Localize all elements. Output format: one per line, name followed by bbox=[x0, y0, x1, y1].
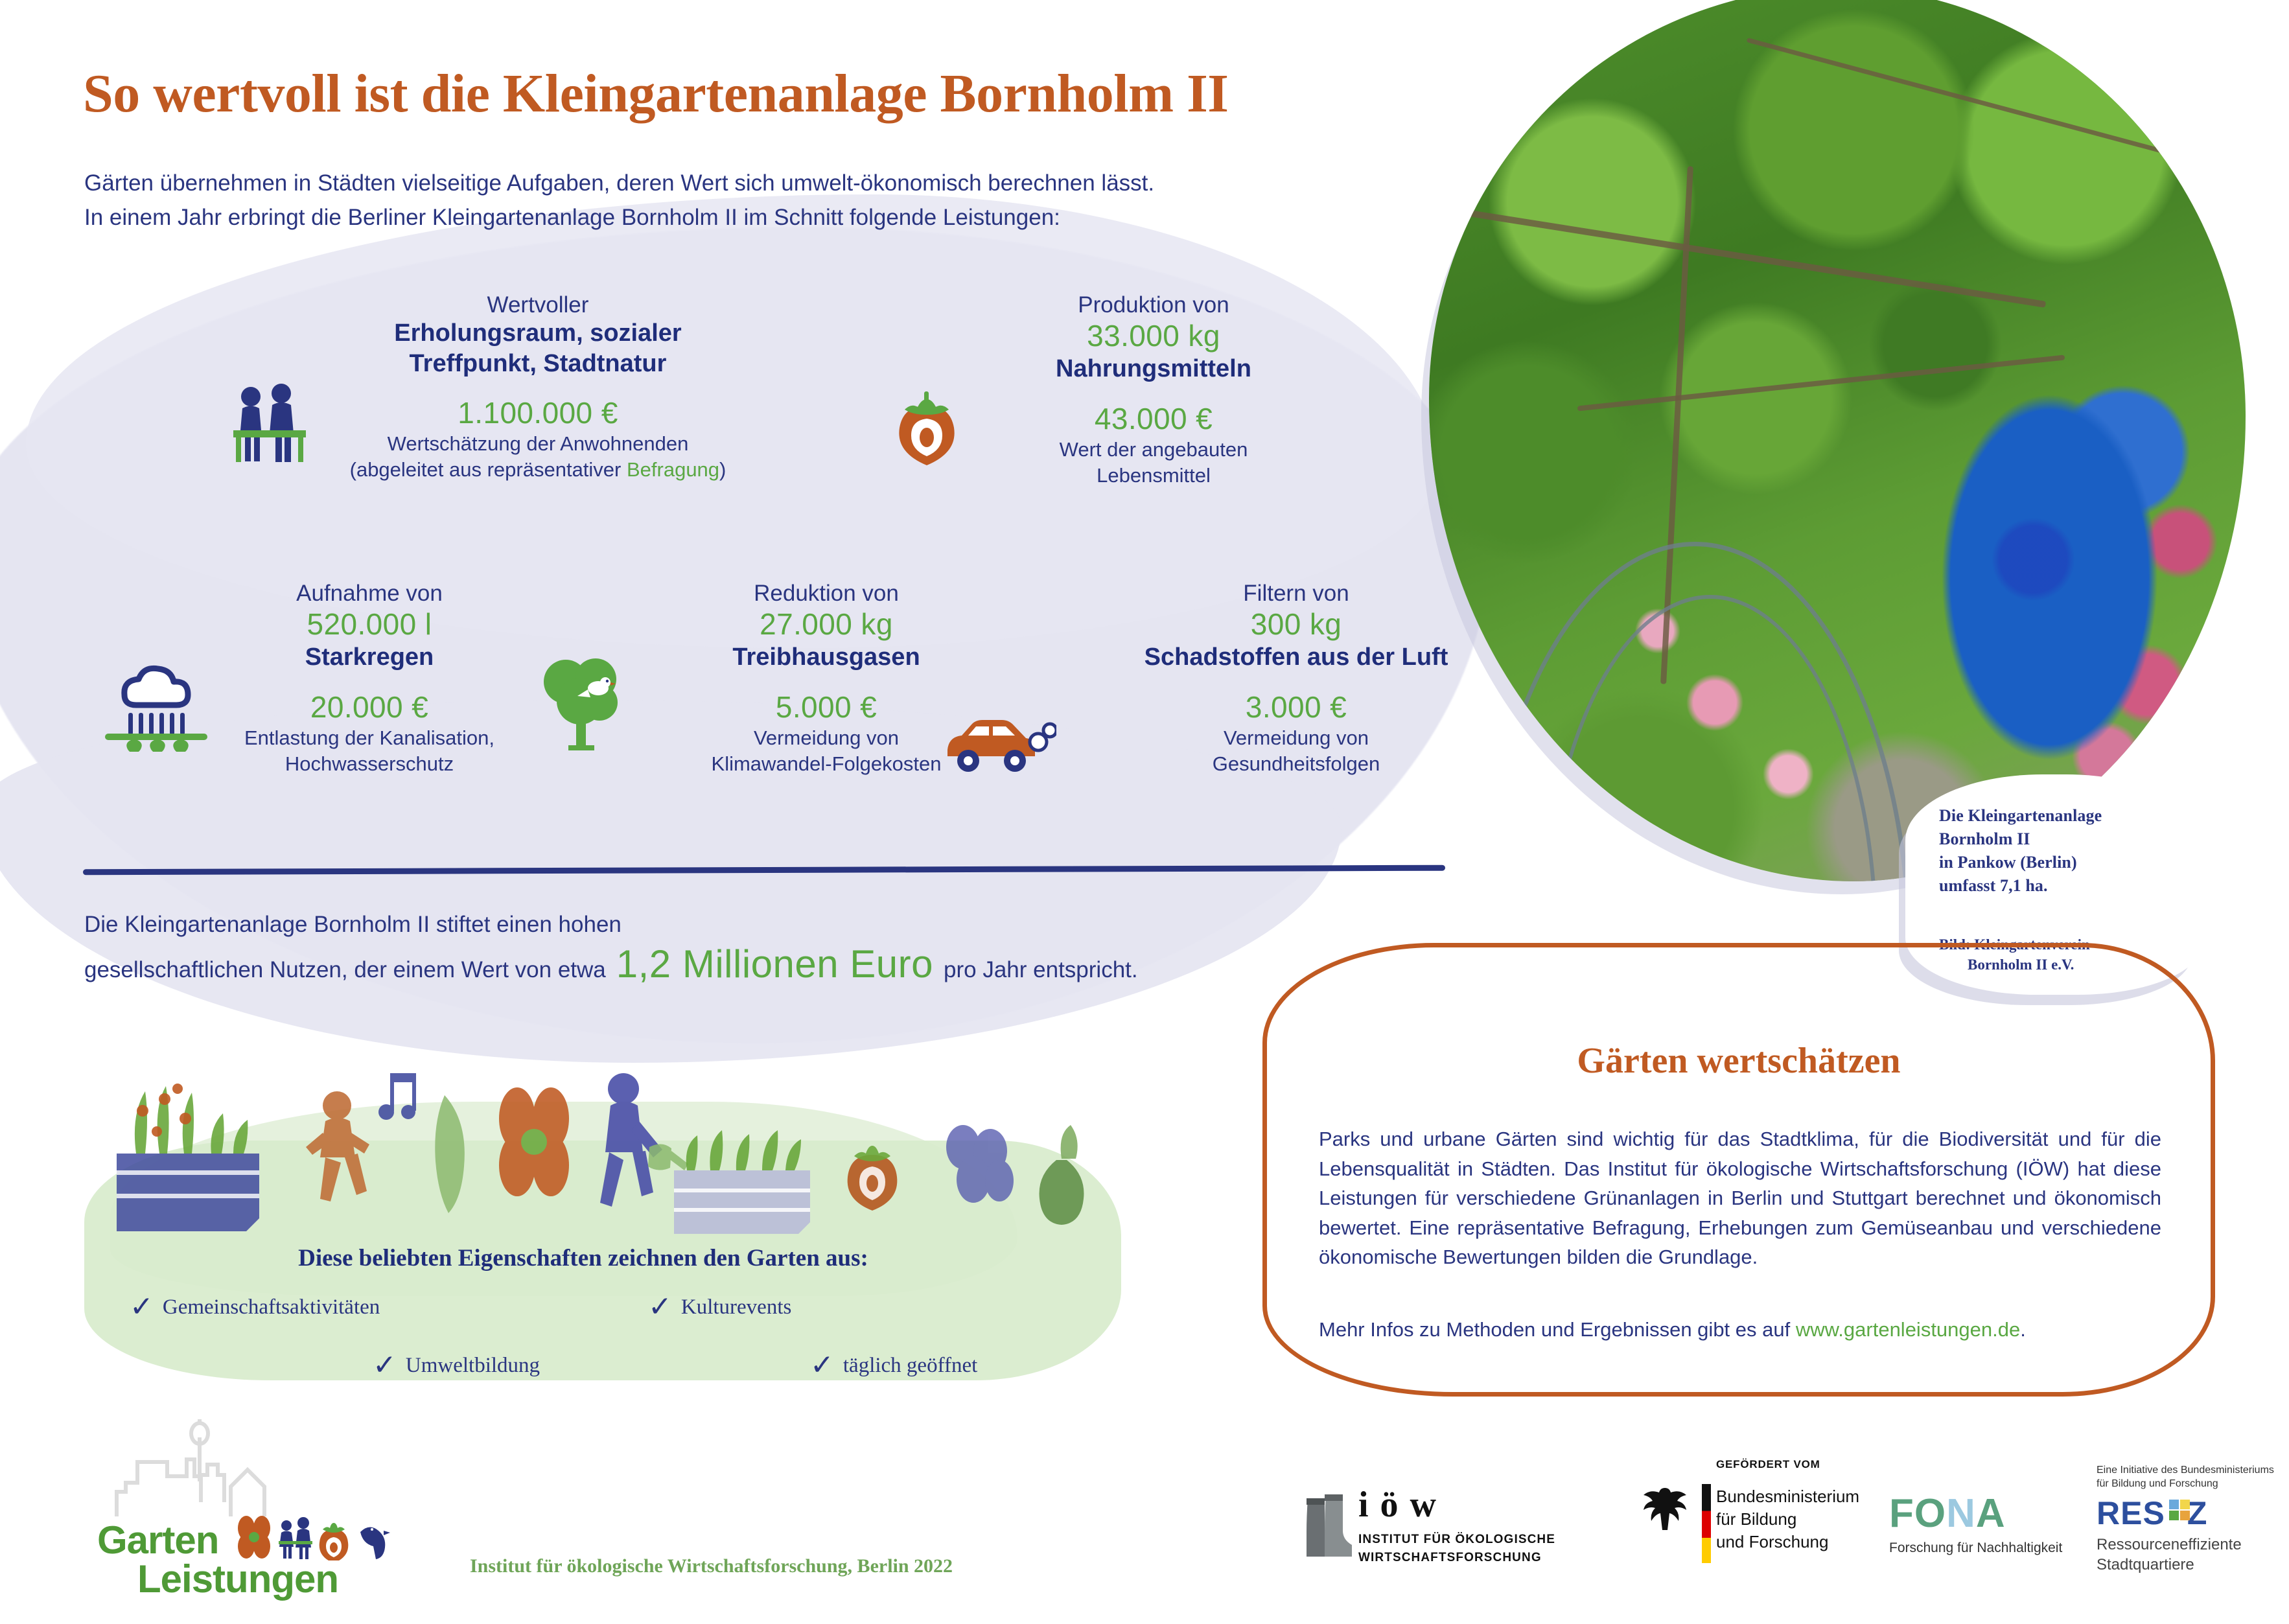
bmbf-logo: GEFÖRDERT VOM Bundesministerium für Bild… bbox=[1633, 1458, 1892, 1575]
stat-recreation-bold-2: Treffpunkt, Stadtnatur bbox=[305, 349, 771, 378]
stat-ghg-bold: Treibhausgasen bbox=[638, 642, 1014, 672]
tree-bird-icon bbox=[528, 655, 632, 755]
check-icon: ✓ bbox=[373, 1351, 397, 1380]
summary-line-1: Die Kleingartenanlage Bornholm II stifte… bbox=[84, 907, 1452, 942]
prop-label: täglich geöffnet bbox=[843, 1354, 977, 1378]
stat-recreation-sub2: (abgeleitet aus repräsentativer Befragun… bbox=[305, 457, 771, 483]
stat-air: Filtern von 300 kg Schadstoffen aus der … bbox=[1069, 580, 1523, 776]
stat-rain-bold: Starkregen bbox=[162, 642, 577, 672]
garden-props-title: Diese beliebten Eigenschaften zeichnen d… bbox=[188, 1244, 979, 1272]
page-title: So wertvoll ist die Kleingartenanlage Bo… bbox=[83, 62, 1228, 125]
garden-illustration bbox=[97, 1056, 1121, 1238]
garden-photo bbox=[1429, 0, 2246, 881]
summary-block: Die Kleingartenanlage Bornholm II stifte… bbox=[84, 907, 1452, 987]
music-note-icon bbox=[378, 1073, 416, 1120]
stat-recreation-bold-1: Erholungsraum, sozialer bbox=[305, 318, 771, 348]
bundesadler-icon bbox=[1637, 1481, 1693, 1553]
intro-paragraph: Gärten übernehmen in Städten vielseitige… bbox=[84, 166, 1413, 235]
german-flag-bar bbox=[1702, 1484, 1711, 1563]
bmbf-gefoerdert-label: GEFÖRDERT VOM bbox=[1716, 1458, 1820, 1471]
prop-item-taeglich-geoeffnet: ✓ täglich geöffnet bbox=[810, 1351, 977, 1380]
prop-item-kulturevents: ✓ Kulturevents bbox=[648, 1293, 791, 1321]
stat-recreation-value: 1.100.000 € bbox=[305, 395, 771, 431]
stat-food: Produktion von 33.000 kg Nahrungsmitteln… bbox=[959, 292, 1348, 488]
ioew-subtitle: INSTITUT FÜR ÖKOLOGISCHE WIRTSCHAFTSFORS… bbox=[1358, 1531, 1555, 1566]
stat-air-sub: Vermeidung von Gesundheitsfolgen bbox=[1069, 725, 1523, 776]
stat-rain-sub: Entlastung der Kanalisation, Hochwassers… bbox=[162, 725, 577, 776]
logo-flower-icon bbox=[238, 1516, 270, 1559]
prop-label: Kulturevents bbox=[681, 1295, 791, 1319]
bench-people-icon bbox=[227, 382, 311, 476]
logo-people-icon bbox=[279, 1517, 312, 1559]
bmbf-name: Bundesministerium für Bildung und Forsch… bbox=[1716, 1485, 1859, 1553]
fona-subtitle: Forschung für Nachhaltigkeit bbox=[1889, 1540, 2071, 1556]
logo-word-leistungen: Leistungen bbox=[137, 1557, 338, 1601]
pea-pod-icon bbox=[435, 1095, 465, 1213]
pear-icon bbox=[1040, 1125, 1084, 1225]
summary-tail: pro Jahr entspricht. bbox=[944, 953, 1138, 987]
logo-bird-icon bbox=[360, 1527, 390, 1559]
car-exhaust-icon bbox=[940, 710, 1056, 784]
gartenleistungen-logo: Garten Leistungen bbox=[97, 1432, 369, 1607]
befragung-highlight: Befragung bbox=[627, 458, 719, 481]
fona-logo: FONA Forschung für Nachhaltigkeit bbox=[1889, 1491, 2071, 1556]
resz-word: RESZ bbox=[2097, 1494, 2207, 1532]
ioew-logo: i ö w INSTITUT FÜR ÖKOLOGISCHE WIRTSCHAF… bbox=[1296, 1484, 1568, 1575]
check-icon: ✓ bbox=[130, 1293, 154, 1321]
watering-person-icon bbox=[600, 1073, 662, 1207]
stat-rain: Aufnahme von 520.000 l Starkregen 20.000… bbox=[162, 580, 577, 776]
stat-ghg-lead: Reduktion von bbox=[638, 580, 1014, 607]
prop-label: Umweltbildung bbox=[406, 1354, 540, 1378]
prop-item-gemeinschaftsaktivitaeten: ✓ Gemeinschaftsaktivitäten bbox=[130, 1293, 380, 1321]
callout-title: Gärten wertschätzen bbox=[1262, 1040, 2215, 1082]
raised-bed-icon bbox=[117, 1084, 259, 1231]
stat-food-value: 43.000 € bbox=[959, 401, 1348, 437]
institute-footer-line: Institut für ökologische Wirtschaftsfors… bbox=[470, 1555, 953, 1577]
ioew-letters: i ö w bbox=[1358, 1484, 1437, 1525]
logo-word-garten: Garten bbox=[97, 1518, 218, 1562]
stat-food-quantity: 33.000 kg bbox=[959, 318, 1348, 354]
fona-word: FONA bbox=[1889, 1491, 2071, 1537]
logo-tomato-icon bbox=[320, 1523, 349, 1560]
stat-food-lead: Produktion von bbox=[959, 292, 1348, 318]
resz-initiative-label: Eine Initiative des Bundesministeriums f… bbox=[2097, 1463, 2278, 1491]
garden-photo-image bbox=[1429, 0, 2246, 881]
stat-ghg-quantity: 27.000 kg bbox=[638, 607, 1014, 642]
stat-rain-lead: Aufnahme von bbox=[162, 580, 577, 607]
callout-body: Parks und urbane Gärten sind wichtig für… bbox=[1319, 1124, 2161, 1272]
stat-food-sub: Wert der angebauten Lebensmittel bbox=[959, 437, 1348, 488]
stat-recreation-sub: Wertschätzung der Anwohnenden bbox=[305, 431, 771, 457]
summary-highlight-value: 1,2 Millionen Euro bbox=[606, 942, 944, 986]
check-icon: ✓ bbox=[648, 1293, 672, 1321]
resz-logo: Eine Initiative des Bundesministeriums f… bbox=[2097, 1463, 2278, 1575]
flower-icon bbox=[499, 1087, 569, 1196]
tomato-small-icon bbox=[848, 1146, 898, 1211]
walking-person-icon bbox=[306, 1091, 369, 1201]
watering-can-icon bbox=[648, 1144, 688, 1170]
photo-caption-text: Die Kleingartenanlage Bornholm II in Pan… bbox=[1939, 804, 2178, 898]
infographic-canvas: Die Kleingartenanlage Bornholm II in Pan… bbox=[0, 0, 2289, 1624]
prop-item-umweltbildung: ✓ Umweltbildung bbox=[373, 1351, 540, 1380]
tomato-icon bbox=[888, 389, 966, 476]
berries-icon bbox=[946, 1125, 1014, 1203]
stat-air-value: 3.000 € bbox=[1069, 690, 1523, 725]
stat-recreation-lead: Wertvoller bbox=[305, 292, 771, 318]
raised-bed-2-icon bbox=[674, 1130, 810, 1234]
prop-label: Gemeinschaftsaktivitäten bbox=[163, 1295, 380, 1319]
rubber-boots-icon bbox=[1307, 1494, 1352, 1557]
callout-more-info: Mehr Infos zu Methoden und Ergebnissen g… bbox=[1319, 1316, 2161, 1345]
summary-line-2: gesellschaftlichen Nutzen, der einem Wer… bbox=[84, 953, 606, 987]
stat-recreation: Wertvoller Erholungsraum, sozialer Treff… bbox=[305, 292, 771, 483]
stat-air-quantity: 300 kg bbox=[1069, 607, 1523, 642]
stat-rain-value: 20.000 € bbox=[162, 690, 577, 725]
stat-air-lead: Filtern von bbox=[1069, 580, 1523, 607]
gartenleistungen-link[interactable]: www.gartenleistungen.de bbox=[1796, 1318, 2020, 1341]
stat-rain-quantity: 520.000 l bbox=[162, 607, 577, 642]
check-icon: ✓ bbox=[810, 1351, 834, 1380]
stat-air-bold: Schadstoffen aus der Luft bbox=[1069, 642, 1523, 672]
resz-subtitle: Ressourceneffiziente Stadtquartiere bbox=[2097, 1535, 2278, 1575]
stat-food-bold: Nahrungsmitteln bbox=[959, 354, 1348, 384]
